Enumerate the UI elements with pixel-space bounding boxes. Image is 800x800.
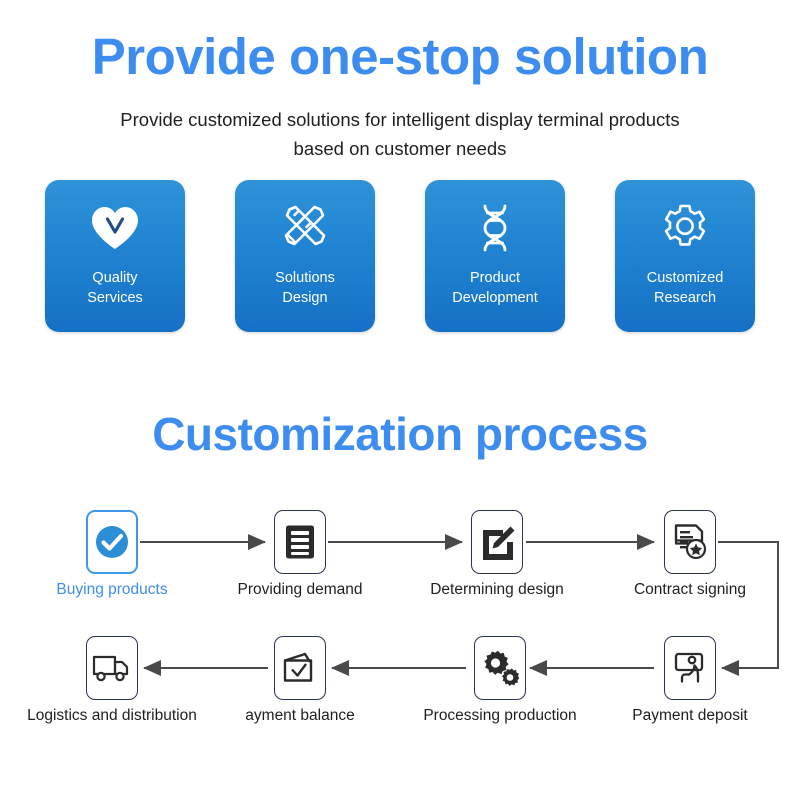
edit-pencil-icon <box>479 524 515 560</box>
process-step-label: Buying products <box>56 580 167 600</box>
feature-card-label: Product Development <box>425 268 565 308</box>
process-step-contract-signing[interactable]: Contract signing <box>664 510 716 574</box>
check-circle-icon <box>93 523 131 561</box>
process-step-logistics-and-distribution[interactable]: Logistics and distribution <box>86 636 138 700</box>
process-step-label: Logistics and distribution <box>27 706 197 726</box>
promo-page: Provide one-stop solution Provide custom… <box>0 0 800 800</box>
hero-subtitle: Provide customized solutions for intelli… <box>60 105 740 163</box>
gears-icon <box>481 650 519 686</box>
process-step-label: Determining design <box>430 580 564 600</box>
process-step-label: ayment balance <box>245 706 354 726</box>
feature-card-label: Customized Research <box>615 268 755 308</box>
process-step-payment-balance[interactable]: ayment balance <box>274 636 326 700</box>
process-flow-diagram: Buying products Providing demand <box>0 490 800 750</box>
hand-card-icon <box>672 650 708 686</box>
process-step-box <box>86 636 138 700</box>
feature-card-label-line1: Quality <box>92 270 137 286</box>
feature-card-label-line2: Research <box>615 288 755 308</box>
feature-card-label-line2: Development <box>425 288 565 308</box>
gear-icon <box>659 202 711 254</box>
process-step-box <box>274 510 326 574</box>
delivery-truck-icon <box>92 653 132 683</box>
document-list-icon <box>283 523 317 561</box>
feature-card-customized-research[interactable]: Customized Research <box>615 180 755 332</box>
feature-card-label-line2: Design <box>235 288 375 308</box>
process-step-box <box>86 510 138 574</box>
feature-card-list: Quality Services <box>45 180 755 332</box>
feature-card-label: Solutions Design <box>235 268 375 308</box>
feature-card-quality-services[interactable]: Quality Services <box>45 180 185 332</box>
certificate-star-icon <box>672 523 708 561</box>
process-step-box <box>471 510 523 574</box>
feature-card-label-line2: Services <box>45 288 185 308</box>
feature-card-solutions-design[interactable]: Solutions Design <box>235 180 375 332</box>
feature-card-label: Quality Services <box>45 268 185 308</box>
process-step-determining-design[interactable]: Determining design <box>471 510 523 574</box>
process-step-label: Processing production <box>423 706 576 726</box>
hero-subtitle-line2: based on customer needs <box>60 134 740 163</box>
process-step-payment-deposit[interactable]: Payment deposit <box>664 636 716 700</box>
process-step-box <box>664 510 716 574</box>
folder-check-icon <box>281 651 319 685</box>
process-step-buying-products[interactable]: Buying products <box>86 510 138 574</box>
process-step-providing-demand[interactable]: Providing demand <box>274 510 326 574</box>
process-step-box <box>274 636 326 700</box>
hero-subtitle-line1: Provide customized solutions for intelli… <box>120 109 679 130</box>
process-step-processing-production[interactable]: Processing production <box>474 636 526 700</box>
feature-card-label-line1: Solutions <box>275 270 335 286</box>
process-step-box <box>474 636 526 700</box>
process-step-box <box>664 636 716 700</box>
process-step-label: Providing demand <box>238 580 363 600</box>
process-step-label: Payment deposit <box>632 706 747 726</box>
process-title: Customization process <box>0 405 800 463</box>
feature-card-label-line1: Product <box>470 270 520 286</box>
feature-card-label-line1: Customized <box>647 270 724 286</box>
process-step-label: Contract signing <box>634 580 746 600</box>
feature-card-product-development[interactable]: Product Development <box>425 180 565 332</box>
hero-title: Provide one-stop solution <box>0 28 800 86</box>
pencil-ruler-icon <box>279 202 331 254</box>
dna-helix-icon <box>469 202 521 254</box>
heart-check-icon <box>89 202 141 254</box>
